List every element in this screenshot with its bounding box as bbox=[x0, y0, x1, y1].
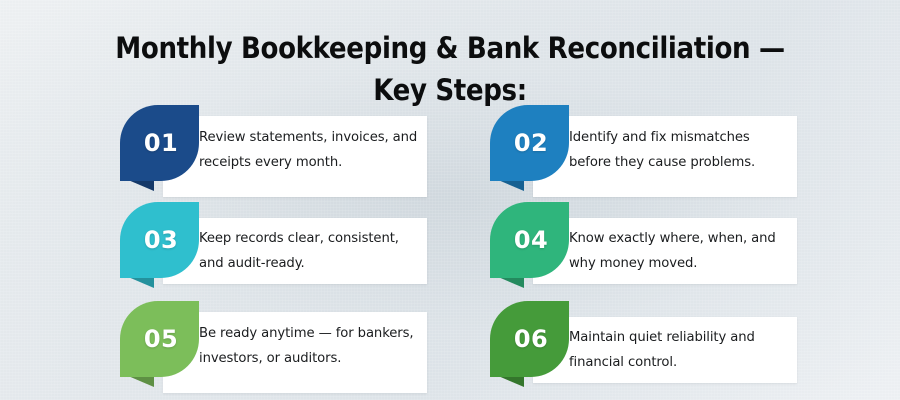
step-card: Keep records clear, consistent, and audi… bbox=[117, 200, 427, 292]
step-description: Maintain quiet reliability and financial… bbox=[569, 325, 791, 375]
step-number-label: 04 bbox=[490, 202, 569, 278]
step-card: Be ready anytime — for bankers, investor… bbox=[117, 299, 427, 391]
step-number-badge: 05 bbox=[117, 299, 213, 391]
step-card: Maintain quiet reliability and financial… bbox=[487, 299, 797, 391]
step-number-badge: 03 bbox=[117, 200, 213, 292]
step-description: Keep records clear, consistent, and audi… bbox=[199, 226, 421, 276]
step-number-label: 06 bbox=[490, 301, 569, 377]
step-number-badge: 02 bbox=[487, 103, 583, 195]
step-card: Identify and fix mismatches before they … bbox=[487, 103, 797, 195]
step-number-label: 03 bbox=[120, 202, 199, 278]
step-card: Review statements, invoices, and receipt… bbox=[117, 103, 427, 195]
step-description: Know exactly where, when, and why money … bbox=[569, 226, 791, 276]
step-description: Be ready anytime — for bankers, investor… bbox=[199, 321, 421, 371]
step-number-badge: 06 bbox=[487, 299, 583, 391]
step-number-label: 01 bbox=[120, 105, 199, 181]
step-description: Review statements, invoices, and receipt… bbox=[199, 125, 421, 175]
page-title: Monthly Bookkeeping & Bank Reconciliatio… bbox=[90, 28, 810, 110]
step-number-label: 05 bbox=[120, 301, 199, 377]
steps-grid: Review statements, invoices, and receipt… bbox=[0, 103, 900, 400]
step-number-badge: 04 bbox=[487, 200, 583, 292]
step-card: Know exactly where, when, and why money … bbox=[487, 200, 797, 292]
step-description: Identify and fix mismatches before they … bbox=[569, 125, 791, 175]
step-number-label: 02 bbox=[490, 105, 569, 181]
infographic-canvas: Monthly Bookkeeping & Bank Reconciliatio… bbox=[0, 0, 900, 400]
step-number-badge: 01 bbox=[117, 103, 213, 195]
